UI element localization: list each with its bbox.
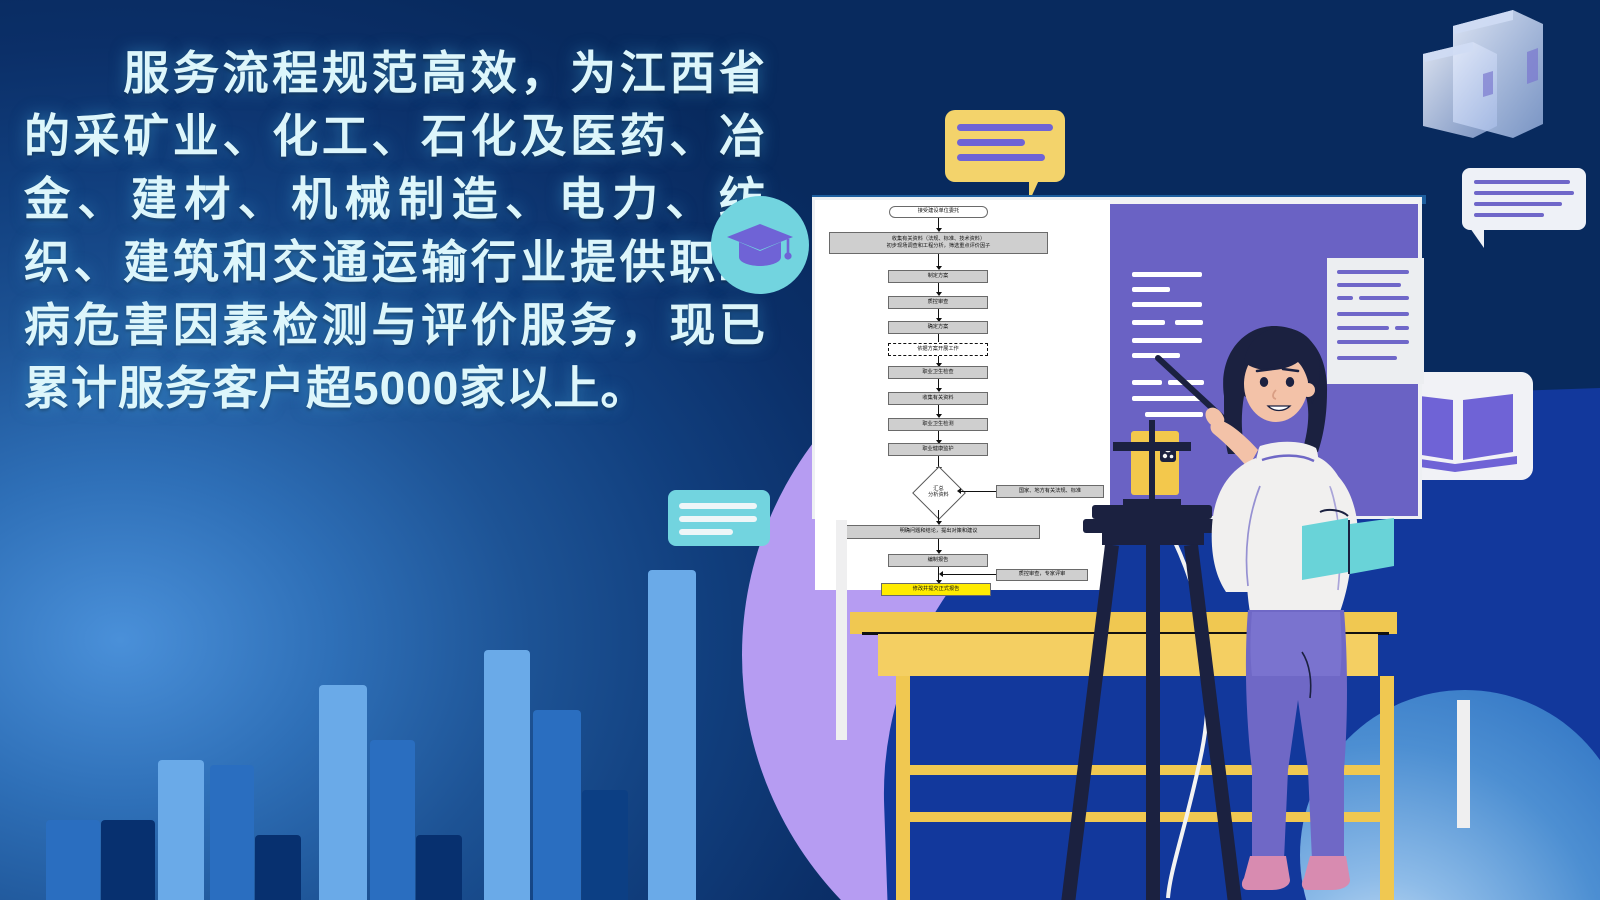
flow-node: 确定方案 (888, 321, 988, 334)
flow-node: 编制报告 (888, 554, 988, 567)
bubble-tail (1470, 228, 1484, 248)
flow-arrowhead (939, 571, 943, 577)
board-stand-post-left (836, 520, 847, 740)
flow-arrow (961, 491, 996, 492)
bubble-line (679, 503, 757, 509)
bar-item (46, 820, 100, 900)
person-illustration (1152, 300, 1442, 900)
document-line (1337, 270, 1409, 274)
table-leg (896, 676, 910, 900)
graduation-cap-glyph (725, 220, 795, 270)
flow-node: 职业卫生检查 (888, 366, 988, 379)
flow-node: 收集有关资料 (888, 392, 988, 405)
flow-arrow (938, 334, 939, 342)
flow-node-highlight: 修改并提交正式报告 (881, 583, 991, 596)
bubble-line (957, 154, 1045, 161)
bubble-line (679, 516, 757, 522)
bar-item (370, 740, 415, 900)
flow-node: 职业健康监护 (888, 443, 988, 456)
bubble-line (1474, 180, 1570, 184)
speech-bubble-yellow (945, 110, 1065, 182)
bubble-line (957, 124, 1053, 131)
flow-node: 职业卫生检测 (888, 418, 988, 431)
bubble-line (679, 529, 733, 535)
board-text-line (1132, 287, 1170, 292)
flow-node: 依据方案开展工作 (888, 343, 988, 356)
flow-node: 制定方案 (888, 270, 988, 283)
flow-node: 质控审查 (888, 296, 988, 309)
flow-arrow (938, 567, 939, 581)
bar-item (582, 790, 628, 900)
bubble-line (1474, 202, 1562, 206)
presenter-person (1152, 300, 1442, 900)
bar-item (210, 765, 254, 900)
bar-item (484, 650, 530, 900)
bar-item (158, 760, 204, 900)
flow-node: 明确问题和结论，提出对策和建议 (837, 525, 1040, 539)
page-title: 服务流程规范高效，为江西省的采矿业、化工、石化及医药、冶金、建材、机械制造、电力… (24, 42, 766, 420)
flow-node: 收集有关资料（法规、标准、技术资料） 初步现场调查和工程分析，筛选重点评价因子 (829, 232, 1048, 254)
bar-item (101, 820, 155, 900)
speech-bubble-teal (668, 490, 770, 546)
bar-item (416, 835, 462, 900)
bar-item (319, 685, 367, 900)
bar-item (255, 835, 301, 900)
background-bar-chart (0, 480, 720, 900)
bar-item (648, 570, 696, 900)
flow-arrow (943, 574, 996, 575)
bubble-line (957, 139, 1025, 146)
bar-item (533, 710, 581, 900)
flow-arrowhead (957, 488, 961, 494)
flow-node: 接受建设单位委托 (889, 206, 988, 218)
board-text-line (1132, 272, 1202, 277)
stacked-books-icon (1375, 4, 1575, 184)
bubble-line (1474, 213, 1544, 217)
graduation-cap-icon (711, 196, 809, 294)
poster-canvas: 服务流程规范高效，为江西省的采矿业、化工、石化及医药、冶金、建材、机械制造、电力… (0, 0, 1600, 900)
document-line (1337, 283, 1401, 287)
books-glyph (1375, 4, 1575, 184)
board-stand-post (1457, 700, 1470, 828)
bubble-line (1474, 191, 1574, 195)
speech-bubble-light (1462, 168, 1586, 230)
